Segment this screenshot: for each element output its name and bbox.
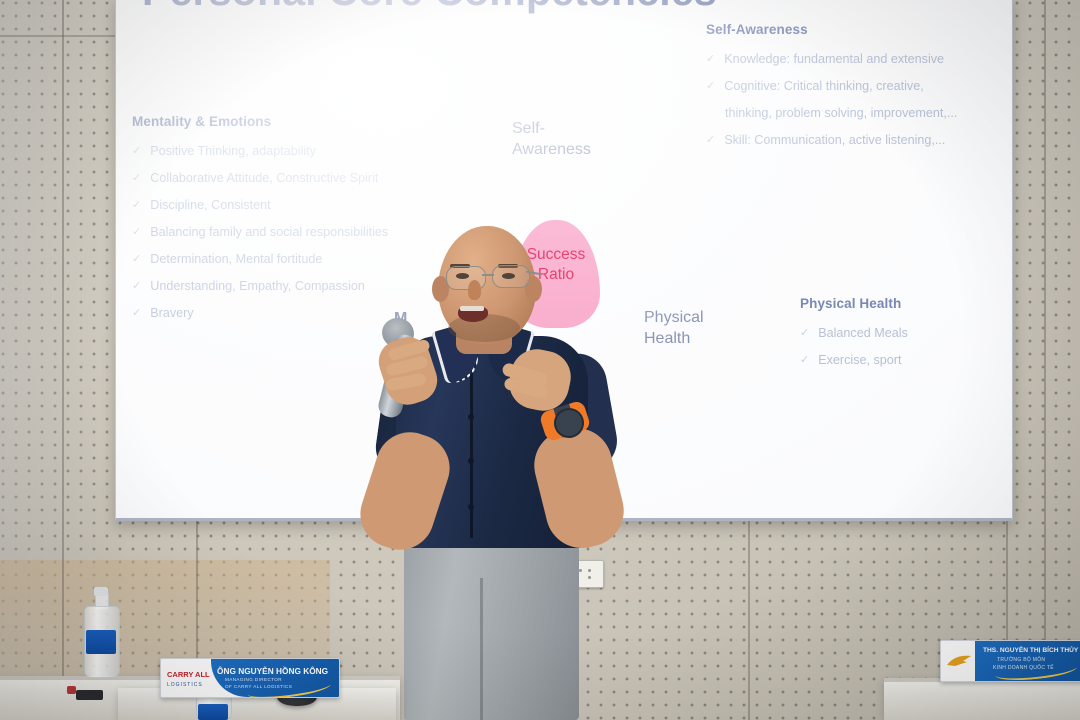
bottle-label bbox=[86, 630, 116, 654]
label-line: Self- bbox=[512, 118, 591, 139]
check-icon: ✓ bbox=[132, 273, 141, 300]
bullet-list: ✓Balanced Meals ✓Exercise, sport bbox=[800, 320, 908, 374]
list-item: ✓Collaborative Attitude, Constructive Sp… bbox=[132, 165, 388, 192]
wall-seam bbox=[62, 0, 64, 720]
eyeglasses-bridge bbox=[482, 274, 494, 276]
list-item: ✓Bravery bbox=[132, 300, 388, 327]
water-bottle-left bbox=[84, 592, 118, 678]
slide-block-mentality-emotions: Mentality & Emotions ✓Positive Thinking,… bbox=[132, 114, 388, 327]
check-icon: ✓ bbox=[706, 127, 715, 154]
block-heading: Self-Awareness bbox=[706, 22, 957, 37]
usb-receiver bbox=[76, 690, 103, 700]
list-item: ✓Understanding, Empathy, Compassion bbox=[132, 273, 388, 300]
presenter bbox=[352, 218, 642, 720]
list-item-label: Knowledge: fundamental and extensive bbox=[724, 46, 944, 73]
nameplate-name: ÔNG NGUYỄN HỒNG KÔNG bbox=[217, 666, 328, 676]
screenshot-root: Personal Core Competencies Mentality & E… bbox=[0, 0, 1080, 720]
list-item-label: Balanced Meals bbox=[818, 320, 908, 347]
list-item-label: Discipline, Consistent bbox=[150, 192, 270, 219]
nameplate-right: THS. NGUYỄN THỊ BÍCH THỦY TRƯỞNG BỘ MÔN … bbox=[940, 640, 1080, 682]
wall-seam bbox=[748, 518, 750, 720]
list-item-label: thinking, problem solving, improvement,.… bbox=[706, 100, 957, 127]
check-icon: ✓ bbox=[132, 246, 141, 273]
bullet-list: ✓Knowledge: fundamental and extensive ✓C… bbox=[706, 46, 957, 154]
label-line: Health bbox=[644, 328, 704, 349]
bird-icon bbox=[945, 653, 973, 669]
diagram-label-self-awareness: Self- Awareness bbox=[512, 118, 591, 160]
logo-sub: LOGISTICS bbox=[167, 682, 203, 688]
bottle-cap bbox=[94, 587, 109, 596]
table-right bbox=[884, 678, 1080, 720]
label-line: Physical bbox=[644, 307, 704, 328]
slide-block-self-awareness: Self-Awareness ✓Knowledge: fundamental a… bbox=[706, 22, 957, 154]
list-item: ✓Balancing family and social responsibil… bbox=[132, 219, 388, 246]
list-item: ✓Knowledge: fundamental and extensive bbox=[706, 46, 957, 73]
check-icon: ✓ bbox=[132, 192, 141, 219]
list-item-label: Exercise, sport bbox=[818, 347, 901, 374]
slide-block-physical-health: Physical Health ✓Balanced Meals ✓Exercis… bbox=[800, 296, 908, 374]
check-icon: ✓ bbox=[132, 138, 141, 165]
wall-seam-horizontal bbox=[0, 35, 118, 37]
eyeglasses-lens-right bbox=[492, 265, 530, 288]
list-item: ✓Balanced Meals bbox=[800, 320, 908, 347]
nameplate-logo: CARRY ALL LOGISTICS bbox=[167, 670, 210, 690]
list-item-label: Collaborative Attitude, Constructive Spi… bbox=[150, 165, 378, 192]
trouser-seam bbox=[480, 578, 483, 720]
shirt-button bbox=[468, 414, 474, 420]
list-item: ✓Skill: Communication, active listening,… bbox=[706, 127, 957, 154]
check-icon: ✓ bbox=[706, 46, 715, 73]
list-item-label: Bravery bbox=[150, 300, 193, 327]
label-line: Awareness bbox=[512, 139, 591, 160]
list-item-label: Cognitive: Critical thinking, creative, bbox=[724, 73, 923, 100]
list-item: ✓Exercise, sport bbox=[800, 347, 908, 374]
diagram-label-physical-health: Physical Health bbox=[644, 307, 704, 349]
slide-title: Personal Core Competencies bbox=[142, 0, 717, 15]
list-item-label: Skill: Communication, active listening,.… bbox=[724, 127, 945, 154]
check-icon: ✓ bbox=[132, 219, 141, 246]
list-item: ✓Positive Thinking, adaptability bbox=[132, 138, 388, 165]
block-heading: Physical Health bbox=[800, 296, 908, 311]
list-item: ✓Determination, Mental fortitude bbox=[132, 246, 388, 273]
list-item: ✓Cognitive: Critical thinking, creative, bbox=[706, 73, 957, 100]
teeth bbox=[460, 306, 484, 311]
presenter-trousers bbox=[404, 526, 579, 720]
logo-main: CARRY ALL bbox=[167, 670, 210, 679]
nameplate-role: MANAGING DIRECTOR bbox=[225, 677, 282, 682]
check-icon: ✓ bbox=[132, 165, 141, 192]
bullet-list: ✓Positive Thinking, adaptability ✓Collab… bbox=[132, 138, 388, 327]
shirt-button bbox=[468, 504, 474, 510]
bottle-label bbox=[198, 704, 228, 720]
list-item: ✓Discipline, Consistent bbox=[132, 192, 388, 219]
check-icon: ✓ bbox=[800, 347, 809, 374]
nose bbox=[468, 280, 481, 300]
nameplate-left: CARRY ALL LOGISTICS ÔNG NGUYỄN HỒNG KÔNG… bbox=[160, 658, 340, 698]
check-icon: ✓ bbox=[706, 73, 715, 100]
list-item-label: Determination, Mental fortitude bbox=[150, 246, 322, 273]
nameplate-name: THS. NGUYỄN THỊ BÍCH THỦY bbox=[983, 647, 1078, 654]
shirt-button bbox=[468, 458, 474, 464]
list-item-label: Understanding, Empathy, Compassion bbox=[150, 273, 365, 300]
check-icon: ✓ bbox=[132, 300, 141, 327]
check-icon: ✓ bbox=[800, 320, 809, 347]
nameplate-logo bbox=[945, 653, 973, 671]
list-item-label: Positive Thinking, adaptability bbox=[150, 138, 316, 165]
small-red-object bbox=[67, 686, 76, 694]
shirt-placket bbox=[470, 368, 473, 538]
block-heading: Mentality & Emotions bbox=[132, 114, 388, 129]
list-item-continuation: thinking, problem solving, improvement,.… bbox=[706, 100, 957, 127]
wall-seam bbox=[1044, 0, 1046, 720]
